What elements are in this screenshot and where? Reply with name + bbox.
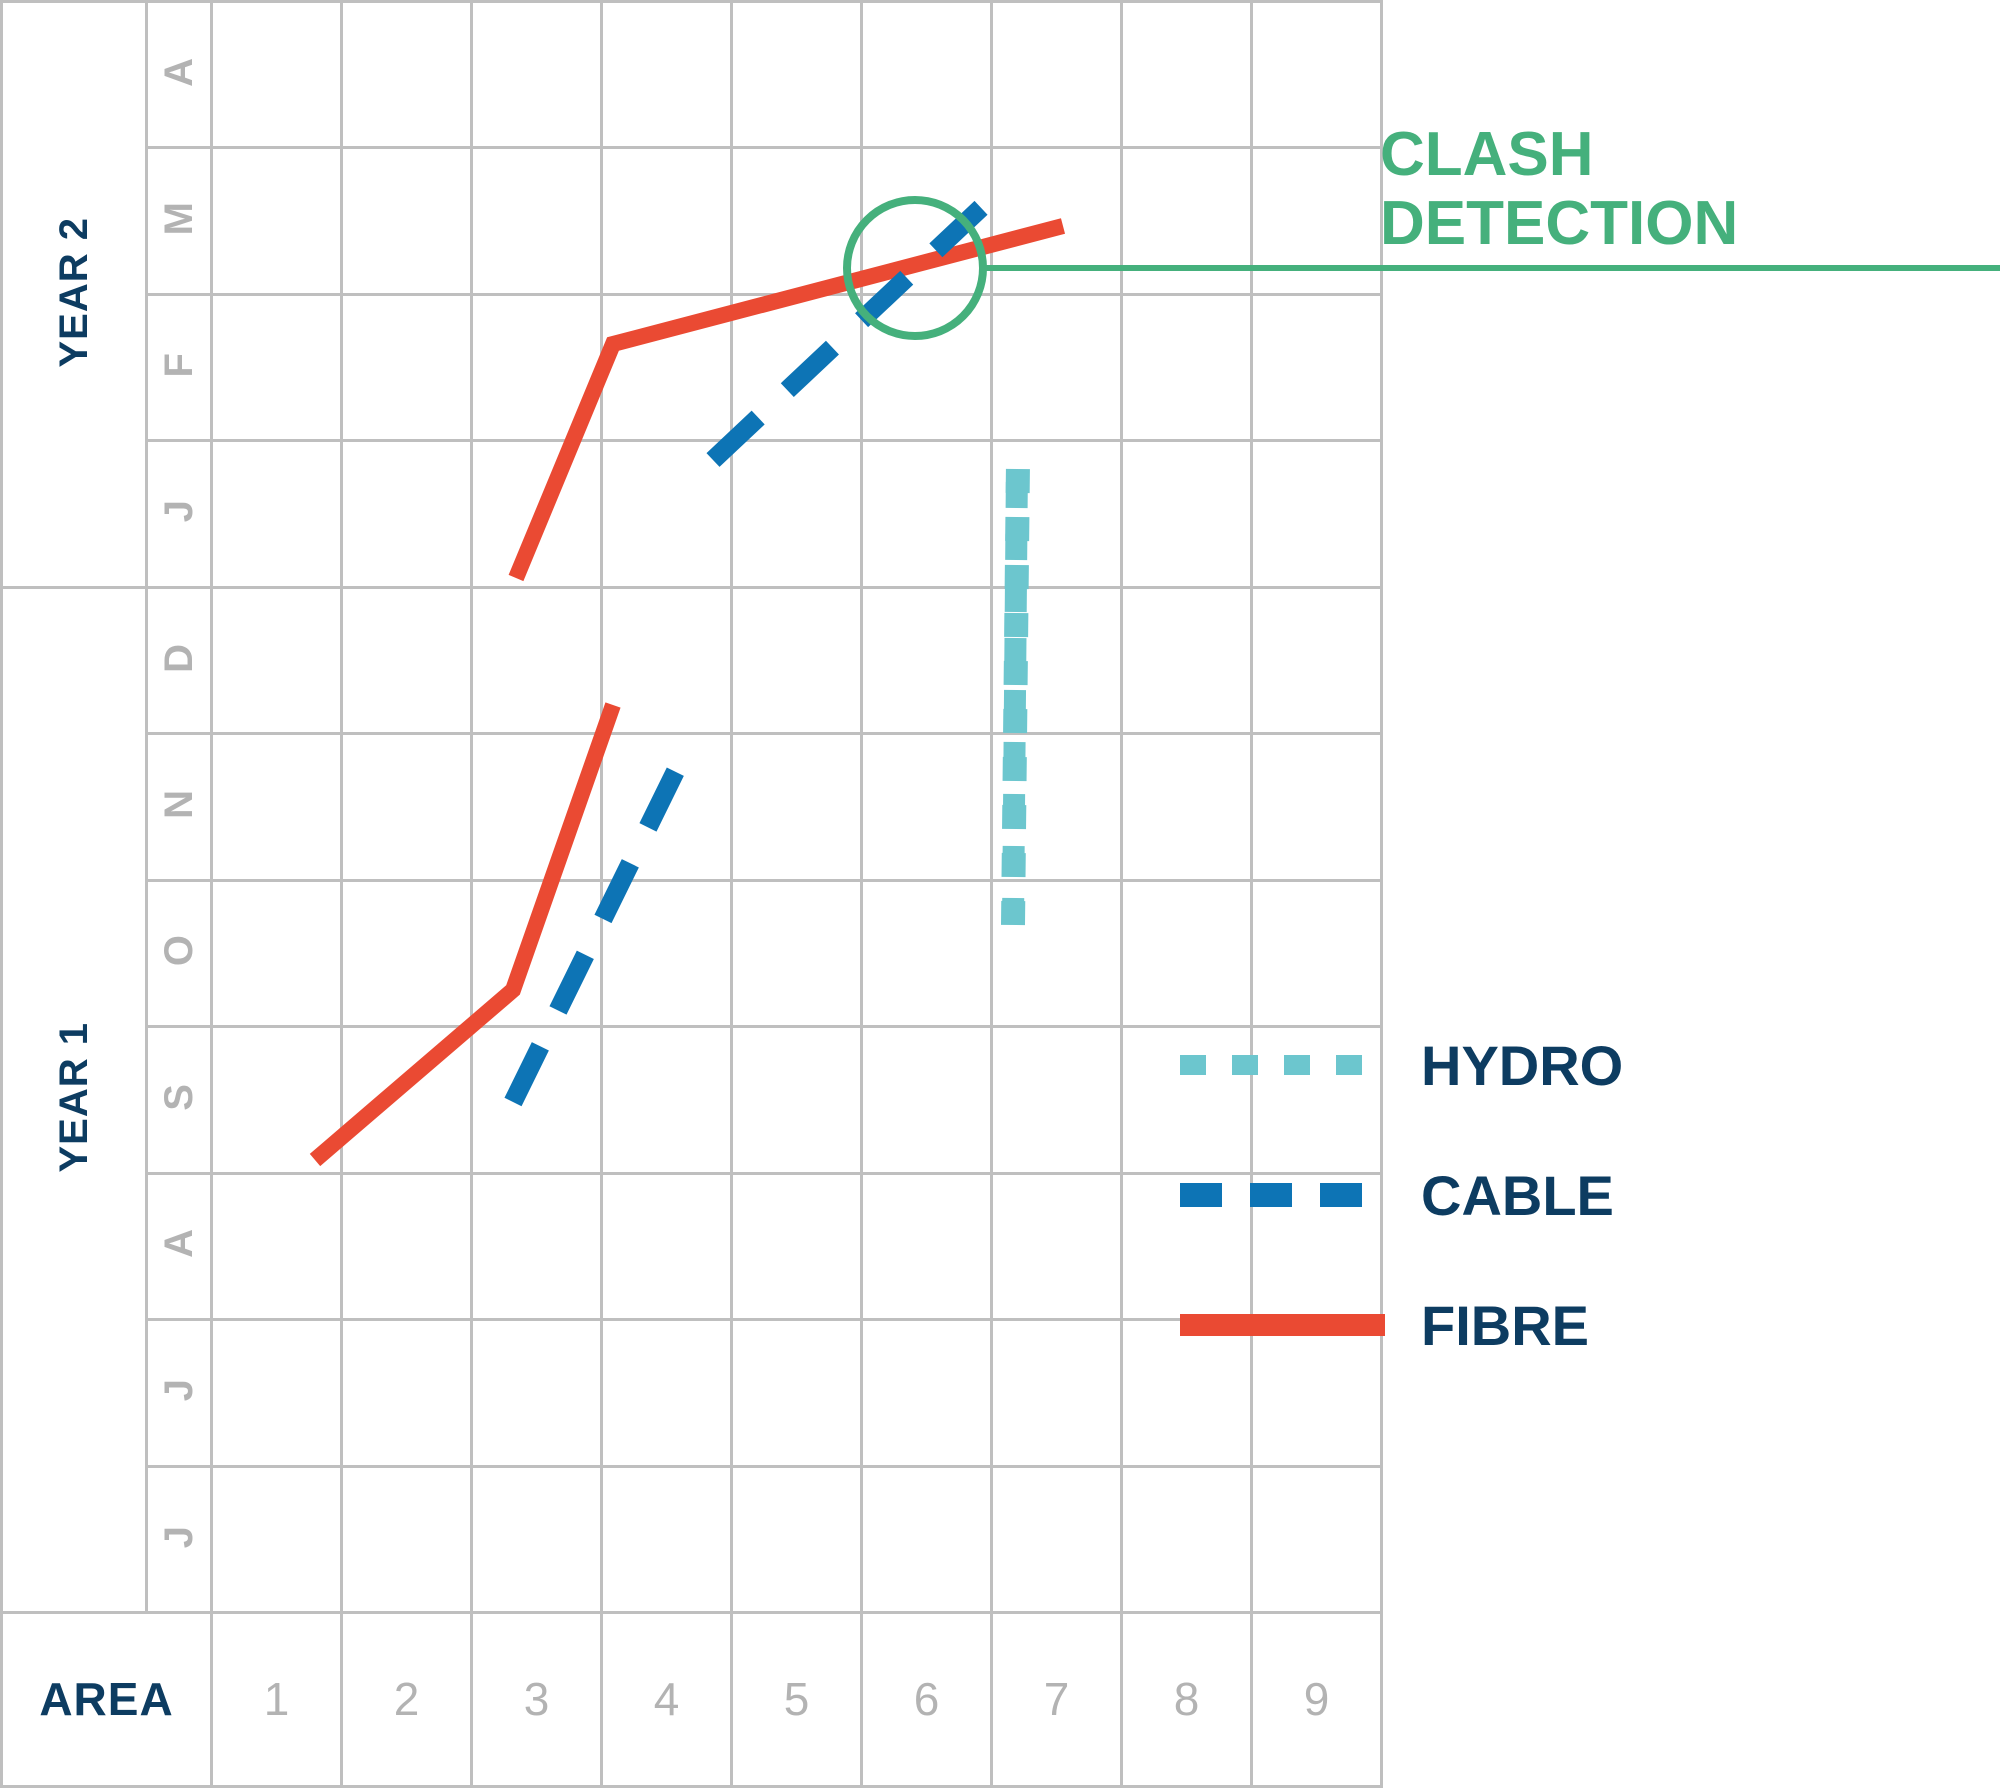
plot-cell [212, 148, 342, 294]
plot-cell [1122, 2, 1252, 148]
area-tick-7: 7 [1044, 1673, 1070, 1725]
grid-row: YEAR 2 A [2, 2, 1382, 148]
plot-cell [862, 294, 992, 440]
plot-cell [602, 1027, 732, 1173]
plot-cell [862, 1173, 992, 1319]
plot-cell [342, 734, 472, 880]
legend-item-hydro[interactable]: HYDRO [1180, 1000, 2000, 1130]
plot-cell [992, 441, 1122, 587]
legend-item-cable[interactable]: CABLE [1180, 1130, 2000, 1260]
plot-cell [992, 1027, 1122, 1173]
plot-cell [602, 1173, 732, 1319]
area-tick-9: 9 [1304, 1673, 1330, 1725]
month-cell: J [147, 1466, 212, 1612]
plot-cell [212, 2, 342, 148]
plot-cell [1122, 441, 1252, 587]
plot-cell [342, 880, 472, 1026]
legend-label-cable: CABLE [1421, 1163, 1614, 1228]
chart-root: YEAR 2 A M F J [0, 0, 2000, 1788]
area-axis-label: AREA [39, 1673, 173, 1725]
plot-cell [212, 294, 342, 440]
month-cell: J [147, 441, 212, 587]
plot-cell [1252, 148, 1382, 294]
grid-row: J [2, 1466, 1382, 1612]
plot-cell [212, 880, 342, 1026]
plot-cell [212, 1466, 342, 1612]
area-tick-6: 6 [914, 1673, 940, 1725]
plot-cell [342, 1173, 472, 1319]
plot-cell [732, 587, 862, 733]
area-tick-1: 1 [264, 1673, 290, 1725]
plot-cell [862, 1466, 992, 1612]
legend-label-fibre: FIBRE [1421, 1293, 1589, 1358]
grid-row: A [2, 1173, 1382, 1319]
grid-row: S [2, 1027, 1382, 1173]
month-cell: N [147, 734, 212, 880]
plot-cell [472, 441, 602, 587]
plot-cell [342, 1027, 472, 1173]
area-tick-4: 4 [654, 1673, 680, 1725]
plot-cell [992, 1173, 1122, 1319]
month-label: M [159, 202, 199, 235]
area-tick-cell: 7 [992, 1612, 1122, 1786]
plot-cell [862, 148, 992, 294]
legend-item-fibre[interactable]: FIBRE [1180, 1260, 2000, 1390]
plot-cell [342, 587, 472, 733]
plot-cell [862, 880, 992, 1026]
area-tick-cell: 3 [472, 1612, 602, 1786]
grid-row: YEAR 1 D [2, 587, 1382, 733]
plot-cell [472, 1027, 602, 1173]
plot-cell [342, 148, 472, 294]
plot-cell [1252, 587, 1382, 733]
grid-row: O [2, 880, 1382, 1026]
plot-cell [602, 1466, 732, 1612]
area-tick-3: 3 [524, 1673, 550, 1725]
month-label: J [159, 1379, 199, 1401]
plot-cell [1252, 734, 1382, 880]
area-tick-cell: 9 [1252, 1612, 1382, 1786]
month-label: D [159, 644, 199, 673]
grid-table: YEAR 2 A M F J [0, 0, 1383, 1788]
area-tick-cell: 2 [342, 1612, 472, 1786]
plot-cell [212, 734, 342, 880]
plot-cell [602, 880, 732, 1026]
plot-cell [992, 2, 1122, 148]
grid-row: M [2, 148, 1382, 294]
month-cell: A [147, 1173, 212, 1319]
clash-annotation-line2: DETECTION [1380, 189, 2000, 258]
plot-cell [1252, 441, 1382, 587]
plot-cell [732, 880, 862, 1026]
area-tick-2: 2 [394, 1673, 420, 1725]
plot-cell [472, 1173, 602, 1319]
plot-cell [992, 880, 1122, 1026]
plot-cell [472, 587, 602, 733]
plot-cell [732, 1320, 862, 1466]
area-tick-cell: 6 [862, 1612, 992, 1786]
month-cell: F [147, 294, 212, 440]
plot-cell [732, 441, 862, 587]
plot-cell [212, 1027, 342, 1173]
area-label-cell: AREA [2, 1612, 212, 1786]
area-tick-8: 8 [1174, 1673, 1200, 1725]
plot-cell [602, 148, 732, 294]
plot-cell [1252, 2, 1382, 148]
plot-cell [342, 294, 472, 440]
grid-row: F [2, 294, 1382, 440]
plot-cell [992, 734, 1122, 880]
plot-cell [992, 1320, 1122, 1466]
plot-cell [602, 1320, 732, 1466]
year1-label: YEAR 1 [54, 1022, 94, 1173]
plot-cell [862, 441, 992, 587]
plot-cell [992, 587, 1122, 733]
plot-cell [732, 1466, 862, 1612]
plot-cell [732, 2, 862, 148]
plot-cell [472, 734, 602, 880]
clash-detection-annotation: CLASH DETECTION [1380, 120, 2000, 259]
plot-cell [212, 1320, 342, 1466]
plot-cell [472, 2, 602, 148]
chart-legend: HYDRO CABLE FIBRE [1180, 1000, 2000, 1390]
plot-cell [1122, 1466, 1252, 1612]
plot-cell [862, 1320, 992, 1466]
plot-cell [212, 1173, 342, 1319]
fibre-swatch-icon [1180, 1314, 1385, 1336]
month-cell: M [147, 148, 212, 294]
year2-label-cell: YEAR 2 [2, 2, 147, 588]
grid-row: J [2, 441, 1382, 587]
plot-cell [472, 294, 602, 440]
cable-swatch-icon [1180, 1183, 1385, 1207]
area-tick-cell: 5 [732, 1612, 862, 1786]
grid-row: J [2, 1320, 1382, 1466]
clash-annotation-line1: CLASH [1380, 120, 2000, 189]
plot-cell [342, 1320, 472, 1466]
plot-cell [1122, 587, 1252, 733]
month-cell: O [147, 880, 212, 1026]
plot-cell [732, 1173, 862, 1319]
month-label: O [159, 935, 199, 966]
plot-cell [602, 294, 732, 440]
plot-cell [1122, 148, 1252, 294]
area-axis-row: AREA 1 2 3 4 5 6 7 8 9 [2, 1612, 1382, 1786]
chart-grid: YEAR 2 A M F J [0, 0, 1295, 1788]
plot-cell [602, 587, 732, 733]
plot-cell [602, 441, 732, 587]
month-label: A [159, 1229, 199, 1258]
year1-label-cell: YEAR 1 [2, 587, 147, 1612]
plot-cell [602, 2, 732, 148]
plot-cell [732, 734, 862, 880]
month-cell: J [147, 1320, 212, 1466]
plot-cell [212, 441, 342, 587]
grid-row: N [2, 734, 1382, 880]
month-label: F [159, 353, 199, 377]
plot-cell [472, 1466, 602, 1612]
area-tick-cell: 8 [1122, 1612, 1252, 1786]
plot-cell [732, 294, 862, 440]
plot-cell [862, 1027, 992, 1173]
plot-cell [342, 1466, 472, 1612]
plot-cell [472, 1320, 602, 1466]
plot-cell [212, 587, 342, 733]
month-label: J [159, 500, 199, 522]
area-tick-5: 5 [784, 1673, 810, 1725]
year2-label: YEAR 2 [54, 217, 94, 368]
month-cell: S [147, 1027, 212, 1173]
plot-cell [862, 587, 992, 733]
area-tick-cell: 4 [602, 1612, 732, 1786]
plot-cell [472, 148, 602, 294]
plot-cell [862, 734, 992, 880]
plot-cell [1252, 1466, 1382, 1612]
month-label: J [159, 1526, 199, 1548]
plot-cell [342, 441, 472, 587]
legend-label-hydro: HYDRO [1421, 1033, 1623, 1098]
plot-cell [602, 734, 732, 880]
month-cell: A [147, 2, 212, 148]
plot-cell [992, 1466, 1122, 1612]
area-tick-cell: 1 [212, 1612, 342, 1786]
hydro-swatch-icon [1180, 1055, 1385, 1075]
month-label: S [159, 1084, 199, 1111]
plot-cell [342, 2, 472, 148]
plot-cell [1122, 734, 1252, 880]
plot-cell [732, 148, 862, 294]
plot-cell [862, 2, 992, 148]
month-cell: D [147, 587, 212, 733]
plot-cell [992, 294, 1122, 440]
month-label: A [159, 58, 199, 87]
plot-cell [472, 880, 602, 1026]
plot-cell [992, 148, 1122, 294]
month-label: N [159, 790, 199, 819]
plot-cell [732, 1027, 862, 1173]
plot-cell [1252, 294, 1382, 440]
plot-cell [1122, 294, 1252, 440]
